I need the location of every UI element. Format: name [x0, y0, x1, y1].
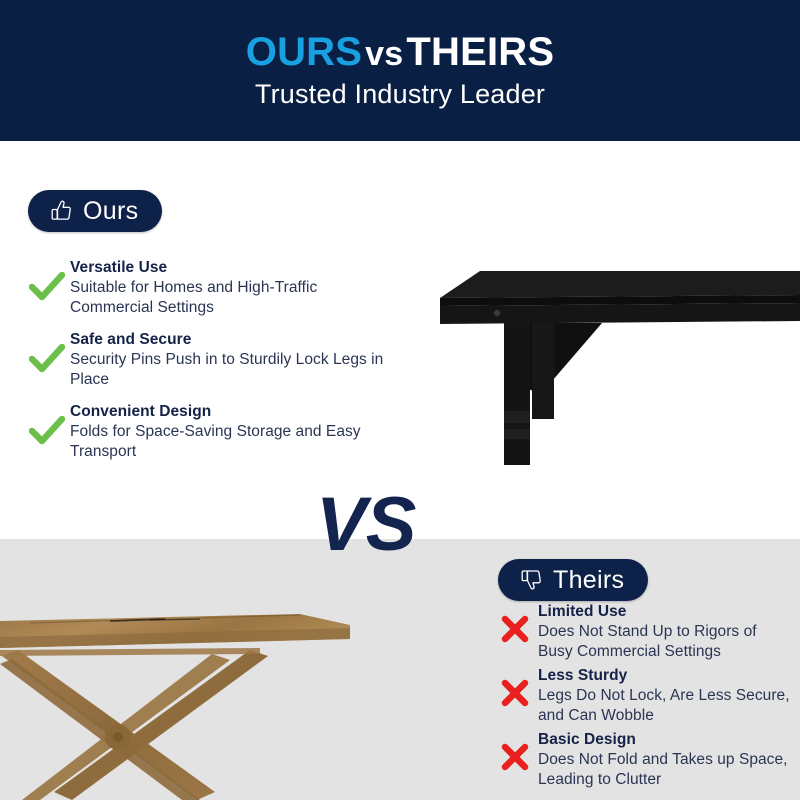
list-item: Versatile Use Suitable for Homes and Hig… [24, 258, 404, 318]
list-item-desc: Folds for Space-Saving Storage and Easy … [70, 422, 404, 462]
cross-icon [492, 666, 538, 708]
list-item-title: Convenient Design [70, 402, 404, 422]
ours-badge: Ours [28, 190, 162, 232]
ours-badge-label: Ours [83, 199, 138, 224]
header-banner: OURSvsTHEIRS Trusted Industry Leader [0, 0, 800, 141]
list-item-title: Versatile Use [70, 258, 404, 278]
list-item-desc: Legs Do Not Lock, Are Less Secure, and C… [538, 686, 792, 726]
wooden-x-leg-table-image [0, 592, 380, 800]
list-item-text: Limited Use Does Not Stand Up to Rigors … [538, 602, 792, 662]
list-item-desc: Security Pins Push in to Sturdily Lock L… [70, 350, 404, 390]
theirs-feature-list: Limited Use Does Not Stand Up to Rigors … [492, 602, 792, 794]
check-icon [24, 330, 70, 374]
list-item-desc: Suitable for Homes and High-Traffic Comm… [70, 278, 404, 318]
list-item: Basic Design Does Not Fold and Takes up … [492, 730, 792, 790]
cross-icon [492, 730, 538, 772]
list-item-title: Limited Use [538, 602, 792, 622]
list-item: Convenient Design Folds for Space-Saving… [24, 402, 404, 462]
page-title: OURSvsTHEIRS [246, 31, 554, 73]
list-item-text: Convenient Design Folds for Space-Saving… [70, 402, 404, 462]
title-theirs: THEIRS [406, 30, 554, 74]
list-item-title: Less Sturdy [538, 666, 792, 686]
cross-icon [492, 602, 538, 644]
vs-divider: VS [316, 487, 415, 563]
title-vs: vs [362, 35, 406, 73]
list-item-desc: Does Not Stand Up to Rigors of Busy Comm… [538, 622, 792, 662]
theirs-badge: Theirs [498, 559, 648, 601]
theirs-badge-label: Theirs [553, 568, 624, 593]
list-item: Limited Use Does Not Stand Up to Rigors … [492, 602, 792, 662]
black-folding-table-image [420, 243, 800, 493]
list-item: Safe and Secure Security Pins Push in to… [24, 330, 404, 390]
list-item-desc: Does Not Fold and Takes up Space, Leadin… [538, 750, 792, 790]
list-item-text: Basic Design Does Not Fold and Takes up … [538, 730, 792, 790]
list-item-title: Basic Design [538, 730, 792, 750]
list-item-title: Safe and Secure [70, 330, 404, 350]
page-subtitle: Trusted Industry Leader [255, 79, 545, 110]
title-ours: OURS [246, 30, 362, 74]
thumbs-down-icon [518, 567, 544, 593]
ours-feature-list: Versatile Use Suitable for Homes and Hig… [24, 258, 404, 474]
list-item-text: Less Sturdy Legs Do Not Lock, Are Less S… [538, 666, 792, 726]
thumbs-up-icon [48, 198, 74, 224]
list-item: Less Sturdy Legs Do Not Lock, Are Less S… [492, 666, 792, 726]
list-item-text: Safe and Secure Security Pins Push in to… [70, 330, 404, 390]
check-icon [24, 402, 70, 446]
check-icon [24, 258, 70, 302]
comparison-infographic: OURSvsTHEIRS Trusted Industry Leader Our… [0, 0, 800, 800]
list-item-text: Versatile Use Suitable for Homes and Hig… [70, 258, 404, 318]
